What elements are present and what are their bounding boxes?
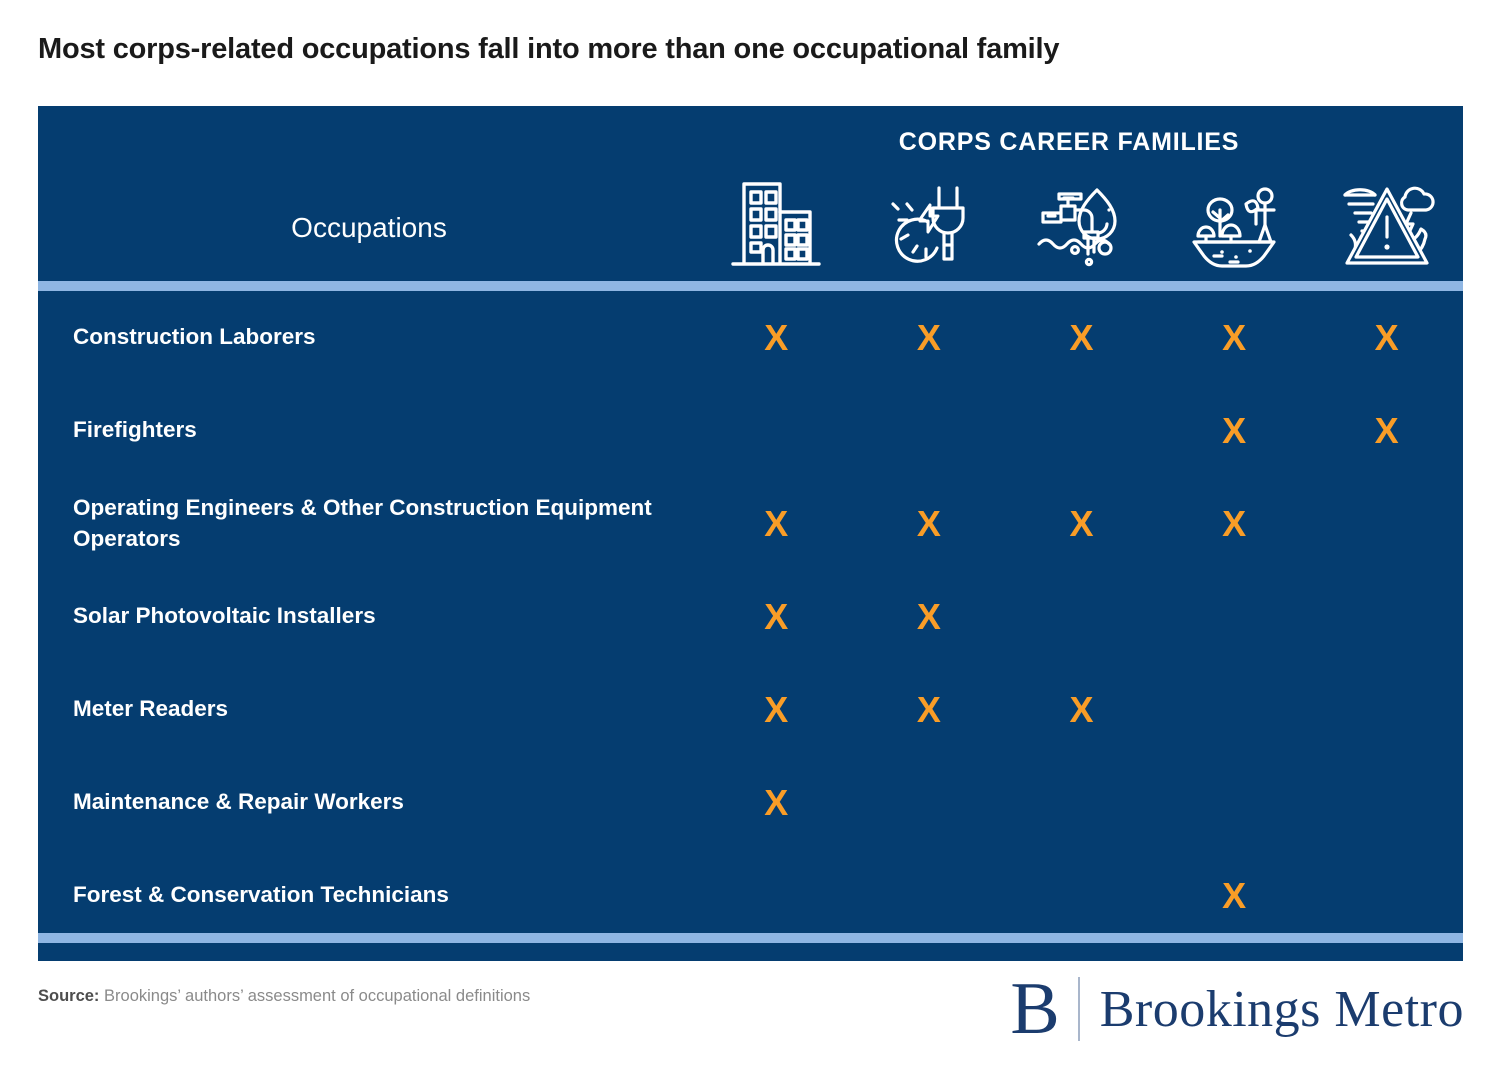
mark-cell: X (700, 506, 853, 542)
buildings-icon (730, 174, 822, 272)
solar-energy-plug-icon (881, 174, 977, 272)
mark-cell: X (1158, 320, 1311, 356)
mark-cell: X (1310, 320, 1463, 356)
header-divider (38, 281, 1463, 291)
water-faucet-droplet-icon (1031, 174, 1131, 272)
mark-cell: X (1158, 506, 1311, 542)
row-marks: X X (700, 384, 1463, 477)
mark-cell: X (700, 785, 853, 821)
mark-cell: X (1005, 506, 1158, 542)
table-row[interactable]: Forest & Conservation Technicians X (38, 849, 1463, 942)
source-note: Source: Brookings’ authors’ assessment o… (38, 987, 530, 1006)
row-label: Construction Laborers (38, 322, 700, 352)
row-label: Firefighters (38, 415, 700, 445)
chart-page: Most corps-related occupations fall into… (0, 0, 1500, 1065)
mark-cell: X (700, 320, 853, 356)
row-marks: X (700, 849, 1463, 942)
brookings-b-mark: B (1010, 974, 1077, 1044)
row-marks: X X X X (700, 477, 1463, 570)
source-text: Brookings’ authors’ assessment of occupa… (104, 987, 530, 1005)
mark-cell: X (1310, 413, 1463, 449)
column-header-water[interactable] (1005, 168, 1158, 278)
source-label: Source: (38, 987, 99, 1005)
table-row[interactable]: Solar Photovoltaic Installers X X (38, 570, 1463, 663)
mark-cell: X (1005, 320, 1158, 356)
mark-cell: X (853, 599, 1006, 635)
table-row[interactable]: Meter Readers X X X (38, 663, 1463, 756)
land-trees-person-icon (1184, 174, 1284, 272)
mark-cell: X (1158, 413, 1311, 449)
mark-cell: X (1005, 692, 1158, 728)
row-label: Solar Photovoltaic Installers (38, 601, 700, 631)
page-title: Most corps-related occupations fall into… (38, 33, 1438, 66)
row-label: Maintenance & Repair Workers (38, 787, 700, 817)
logo-wordmark: Brookings Metro (1100, 980, 1464, 1039)
row-label: Meter Readers (38, 694, 700, 724)
column-header-buildings[interactable] (700, 168, 853, 278)
disaster-warning-icon (1335, 173, 1439, 273)
matrix-body: Construction Laborers X X X X X Firefigh… (38, 291, 1463, 942)
column-header-disaster-resilience[interactable] (1310, 168, 1463, 278)
footer-divider (38, 933, 1463, 943)
row-marks: X X X (700, 663, 1463, 756)
row-marks: X X X X X (700, 291, 1463, 384)
table-row[interactable]: Maintenance & Repair Workers X (38, 756, 1463, 849)
row-marks: X X (700, 570, 1463, 663)
row-label: Operating Engineers & Other Construction… (38, 493, 700, 554)
table-row[interactable]: Firefighters X X (38, 384, 1463, 477)
mark-cell: X (700, 599, 853, 635)
mark-cell: X (853, 692, 1006, 728)
mark-cell: X (1158, 878, 1311, 914)
column-group-title: CORPS CAREER FAMILIES (738, 128, 1400, 157)
logo-divider (1078, 977, 1080, 1041)
chart-footer: Source: Brookings’ authors’ assessment o… (0, 961, 1500, 1065)
mark-cell: X (853, 506, 1006, 542)
row-label: Forest & Conservation Technicians (38, 880, 700, 910)
mark-cell: X (853, 320, 1006, 356)
row-group-title: Occupations (38, 212, 700, 244)
matrix-card: CORPS CAREER FAMILIES Occupations (38, 106, 1463, 961)
column-header-lands[interactable] (1158, 168, 1311, 278)
mark-cell: X (700, 692, 853, 728)
table-row[interactable]: Operating Engineers & Other Construction… (38, 477, 1463, 570)
table-row[interactable]: Construction Laborers X X X X X (38, 291, 1463, 384)
brookings-metro-logo: B Brookings Metro (1010, 969, 1464, 1049)
column-header-clean-energy[interactable] (853, 168, 1006, 278)
matrix-header: CORPS CAREER FAMILIES Occupations (38, 106, 1463, 281)
column-icon-row (700, 168, 1463, 278)
row-marks: X (700, 756, 1463, 849)
